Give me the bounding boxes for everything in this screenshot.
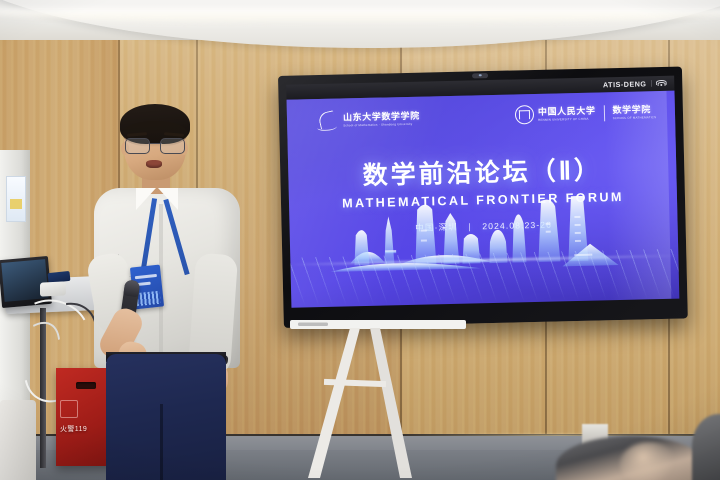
speaker-person: [96, 104, 236, 480]
bin: [0, 400, 36, 480]
slide-subtitle: 中国·深圳 | 2024.08.23-26: [290, 216, 678, 237]
slide-surface: 山东大学数学学院 School of Mathematics · Shandon…: [287, 91, 680, 308]
logo-ruc-name-cn: 中国人民大学: [538, 106, 596, 116]
presentation-display[interactable]: ATIS-DENG | 山东大学数学学院 School of Mathemati…: [278, 66, 688, 327]
slide-dates: 2024.08.23-26: [482, 220, 552, 232]
webcam-icon: [472, 73, 488, 78]
logo-ruc-unit-en: SCHOOL OF MATHEMATICS: [613, 116, 657, 120]
cabinet-handle: [76, 382, 96, 389]
logo-shandong-university: 山东大学数学学院 School of Mathematics · Shandon…: [317, 109, 420, 131]
skyline-light-rays: [290, 249, 679, 308]
fire-emblem-icon: [60, 400, 78, 418]
eyeglasses-icon: [125, 138, 185, 153]
logo-sdu-name-cn: 山东大学数学学院: [343, 112, 420, 123]
sdu-emblem-icon: [317, 111, 339, 132]
slide-subtitle-separator: |: [468, 221, 472, 231]
power-adapter: [40, 281, 66, 296]
trouser-seam: [160, 404, 163, 480]
status-divider: |: [650, 80, 652, 87]
pillar-sign: [6, 176, 26, 222]
speaker-trousers: [106, 354, 226, 480]
speaker-mouth: [146, 160, 162, 168]
logo-sdu-name-en: School of Mathematics · Shandong Univers…: [343, 123, 420, 128]
audience-head-highlight: [620, 442, 678, 480]
slide-logo-row: 山东大学数学学院 School of Mathematics · Shandon…: [287, 101, 676, 136]
logo-ruc-name-en: RENMIN UNIVERSITY OF CHINA: [538, 117, 596, 121]
slide-title-block: 数学前沿论坛（Ⅱ） MATHEMATICAL FRONTIER FORUM 中国…: [288, 149, 678, 237]
display-tripod-stand: [290, 320, 470, 480]
slide-title-cn: 数学前沿论坛（Ⅱ）: [288, 149, 677, 194]
network-name-label: ATIS-DENG: [603, 79, 647, 89]
logo-renmin-university: 中国人民大学 RENMIN UNIVERSITY OF CHINA 数学学院 S…: [515, 102, 657, 124]
logo-ruc-unit-cn: 数学学院: [612, 105, 656, 115]
logo-divider: [603, 105, 604, 121]
ruc-emblem-icon: [515, 105, 534, 124]
screenshot-root: ATIS-DENG | 山东大学数学学院 School of Mathemati…: [0, 0, 720, 480]
display-bezel: ATIS-DENG | 山东大学数学学院 School of Mathemati…: [278, 66, 688, 327]
wifi-icon: [656, 79, 666, 87]
slide-location: 中国·深圳: [415, 222, 458, 233]
fire-cabinet-label: 火警119: [60, 424, 87, 434]
